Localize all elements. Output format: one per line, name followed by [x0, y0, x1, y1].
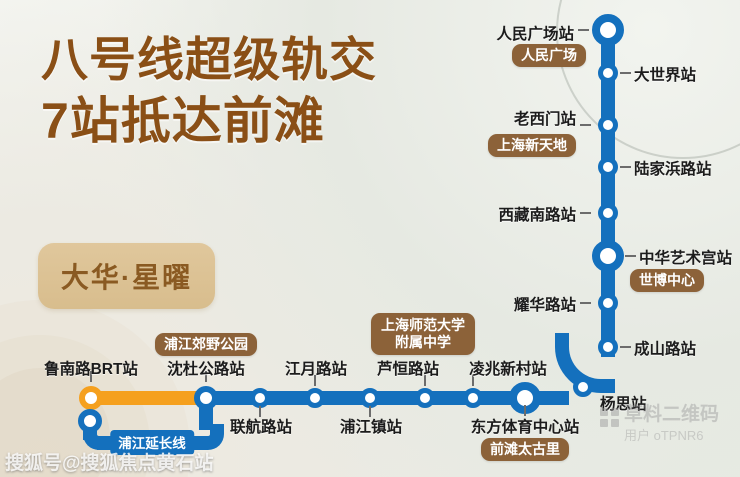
watermark-bottom-left: 搜狐号@搜狐焦点黄石站 [5, 448, 214, 475]
headline-block: 八号线超级轨交 7站抵达前滩 [41, 36, 461, 147]
qr-cell-br [611, 419, 619, 427]
station-dot-jiangyuelu[interactable] [305, 388, 325, 408]
station-dot-pujiangzhen[interactable] [360, 388, 380, 408]
station-dot-zhonghuayishugong[interactable] [592, 240, 624, 272]
station-label-pujiangzhen: 浦江镇站 [340, 415, 402, 437]
station-dot-lunanlu-brt[interactable] [79, 386, 103, 410]
station-label-xizangnanlu: 西藏南路站 [498, 203, 576, 225]
station-dot-laoximen[interactable] [598, 115, 618, 135]
station-label-lujiabangly: 陆家浜路站 [634, 157, 712, 179]
station-dot-yangsi[interactable] [573, 377, 593, 397]
station-label-lunanlu-brt: 鲁南路BRT站 [44, 357, 138, 379]
watermark-right-main: 草料二维码 [624, 404, 740, 426]
poster-canvas: 八号线超级轨交 7站抵达前滩 大华·星曜 人民广场站 人民广场 大世界站 老西门… [0, 0, 740, 477]
watermark-right-sub: 用户 oTPNR6 [624, 428, 740, 444]
station-label-yaohualu: 耀华路站 [514, 293, 576, 315]
station-label-dashijie: 大世界站 [634, 63, 696, 85]
station-label-chengshanlu: 成山路站 [634, 337, 696, 359]
station-dot-lianhanglu[interactable] [250, 388, 270, 408]
watermark-right: 草料二维码 用户 oTPNR6 [624, 404, 740, 443]
leader-zhonghuayishugong [625, 255, 636, 257]
leader-renminguangchang [578, 29, 589, 31]
station-dot-yaohualu[interactable] [598, 293, 618, 313]
poi-pill-laoximen: 上海新天地 [488, 134, 576, 157]
station-label-luhenglu: 芦恒路站 [377, 357, 439, 379]
extension-line-orange [88, 391, 206, 405]
station-dot-luhenglu[interactable] [415, 388, 435, 408]
poi-pill-shanghai-normal-university-middle-school: 上海师范大学 附属中学 [371, 313, 475, 355]
station-label-dongfangtiyuzhongxin: 东方体育中心站 [471, 415, 580, 437]
station-dot-chengshanlu[interactable] [598, 337, 618, 357]
station-dot-extension-terminus[interactable] [78, 409, 102, 433]
qr-code-icon [600, 408, 619, 427]
leader-dashijie [620, 72, 631, 74]
station-label-jiangyuelu: 江月路站 [285, 357, 347, 379]
poi-pill-zhonghuayishugong: 世博中心 [630, 269, 704, 292]
qr-cell-tl [600, 408, 608, 416]
station-dot-shenducc[interactable] [194, 386, 218, 410]
station-dot-lujiabangly[interactable] [598, 157, 618, 177]
leader-laoximen [580, 124, 591, 126]
station-label-lingzhaoxincun: 凌兆新村站 [469, 357, 547, 379]
station-label-zhonghuayishugong: 中华艺术宫站 [639, 246, 732, 268]
station-label-laoximen: 老西门站 [514, 107, 576, 129]
headline-line-2: 7站抵达前滩 [41, 95, 461, 147]
station-dot-renminguangchang[interactable] [592, 14, 624, 46]
leader-yaohualu [580, 302, 591, 304]
poi-pill-dongfangtiyuzhongxin: 前滩太古里 [481, 438, 569, 461]
poi-pill-line-1: 上海师范大学 [381, 317, 465, 333]
poi-pill-shenducc: 浦江郊野公园 [155, 333, 257, 356]
qr-cell-bl [600, 419, 608, 427]
leader-chengshanlu [620, 346, 631, 348]
brand-badge: 大华·星曜 [38, 243, 215, 309]
station-dot-lingzhaoxincun[interactable] [463, 388, 483, 408]
station-label-lianhanglu: 联航路站 [230, 415, 292, 437]
station-dot-dashijie[interactable] [598, 63, 618, 83]
poi-pill-line-2: 附属中学 [381, 334, 465, 350]
station-dot-xizangnanlu[interactable] [598, 203, 618, 223]
station-label-renminguangchang: 人民广场站 [496, 22, 574, 44]
headline-line-1: 八号线超级轨交 [41, 36, 461, 85]
brand-name: 大华·星曜 [61, 256, 192, 296]
leader-lujiabangly [620, 166, 631, 168]
station-label-shenducc: 沈杜公路站 [167, 357, 245, 379]
poi-pill-renminguangchang: 人民广场 [512, 44, 586, 67]
qr-cell-tr [611, 408, 619, 416]
leader-xizangnanlu [580, 212, 591, 214]
